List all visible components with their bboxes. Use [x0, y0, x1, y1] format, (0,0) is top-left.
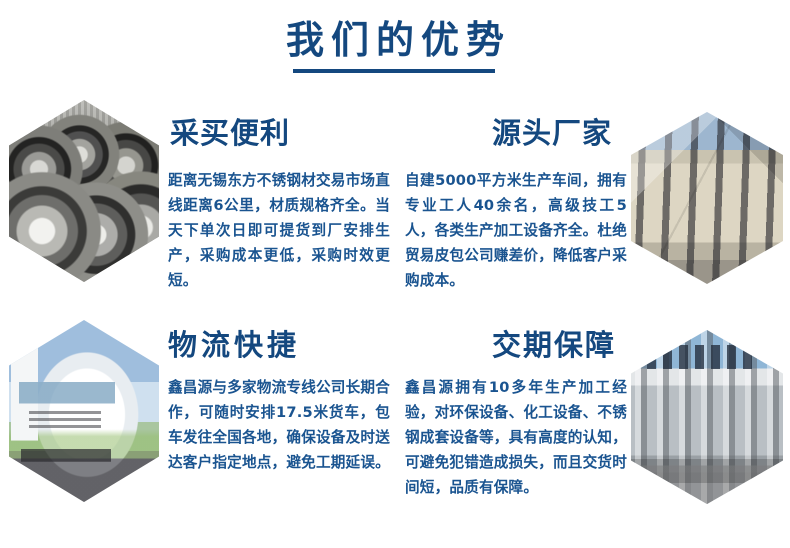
advantages-page: 我们的优势 采买便利 距离无锡东方不锈钢材交易市场直线距离6公里，材质规格齐全。…	[0, 0, 790, 548]
feature-4-hexagon-image	[631, 330, 783, 504]
feature-2-hexagon-image	[631, 112, 783, 284]
feature-1-body: 距离无锡东方不锈钢材交易市场直线距离6公里，材质规格齐全。当天下单次日即可提货到…	[168, 168, 390, 293]
page-title-container: 我们的优势	[0, 16, 790, 64]
feature-3-body: 鑫昌源与多家物流专线公司长期合作，可随时安排17.5米货车，包车发往全国各地，确…	[168, 375, 390, 475]
feature-1-hexagon-image	[9, 100, 159, 282]
feature-2-heading: 源头厂家	[492, 116, 612, 150]
page-title: 我们的优势	[279, 16, 511, 64]
factory-building-photo	[631, 112, 783, 284]
feature-3-heading: 物流快捷	[168, 328, 300, 362]
delivery-truck-photo	[9, 320, 159, 502]
feature-2-body: 自建5000平方米生产车间，拥有专业工人40余名，高级技工5人，各类生产加工设备…	[405, 168, 627, 293]
steel-coils-photo	[9, 100, 159, 282]
feature-3-hexagon-image	[9, 320, 159, 502]
feature-1-heading: 采买便利	[170, 116, 290, 150]
stainless-steel-tanks-photo	[631, 330, 783, 504]
title-underline	[293, 69, 495, 73]
feature-4-heading: 交期保障	[492, 328, 616, 362]
feature-4-body: 鑫昌源拥有10多年生产加工经验，对环保设备、化工设备、不锈钢成套设备等，具有高度…	[405, 375, 627, 500]
